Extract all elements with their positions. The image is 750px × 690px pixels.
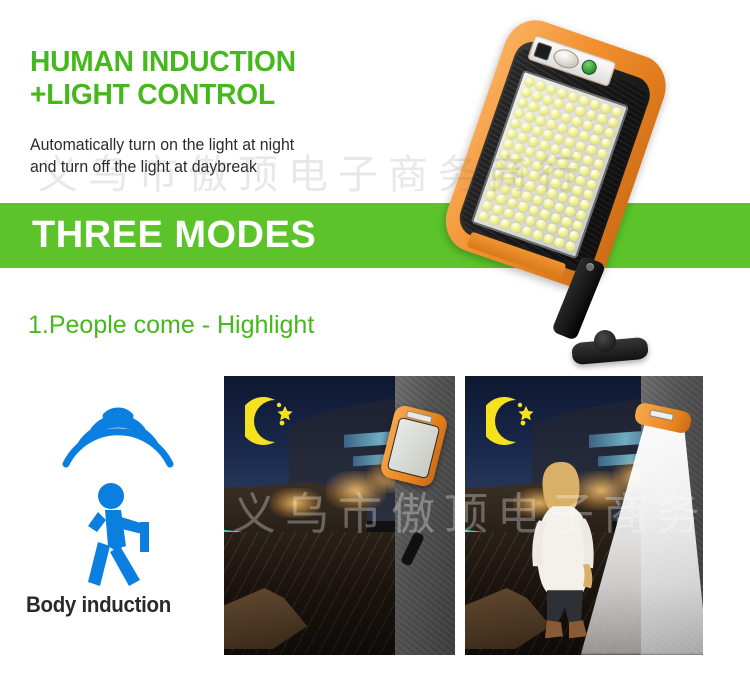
led-dot bbox=[564, 240, 577, 253]
led-dot bbox=[588, 168, 601, 181]
body-induction-block: Body induction bbox=[22, 400, 222, 640]
photo-night-lamp-off bbox=[224, 376, 455, 655]
product-infographic-page: HUMAN INDUCTION +LIGHT CONTROL Automatic… bbox=[0, 0, 750, 690]
product-lamp-image bbox=[448, 24, 698, 364]
crescent-moon-stars-icon bbox=[245, 396, 301, 446]
mode-caption-1: 1.People come - Highlight bbox=[28, 310, 314, 340]
lamp-pivot-joint bbox=[594, 330, 616, 352]
walking-woman-figure bbox=[517, 443, 613, 649]
body-induction-label: Body induction bbox=[26, 592, 212, 618]
pir-sensor-dome-icon bbox=[551, 46, 581, 71]
walking-person-signal-icon bbox=[48, 400, 188, 590]
subcopy-line-1: Automatically turn on the light at night bbox=[30, 134, 433, 156]
led-dot bbox=[592, 157, 605, 170]
subcopy-block: Automatically turn on the light at night… bbox=[30, 134, 450, 178]
three-modes-banner-title: THREE MODES bbox=[32, 207, 316, 264]
led-dot bbox=[553, 236, 566, 249]
warm-light-glow-3 bbox=[270, 488, 321, 519]
led-dot bbox=[531, 229, 544, 242]
headline-line-2: +LIGHT CONTROL bbox=[30, 79, 437, 112]
night-scene-left bbox=[224, 376, 455, 655]
headline-line-1: HUMAN INDUCTION bbox=[30, 46, 437, 79]
photo-night-lamp-on bbox=[465, 376, 703, 655]
light-sensor-square-icon bbox=[533, 41, 552, 60]
headline-block: HUMAN INDUCTION +LIGHT CONTROL bbox=[30, 46, 450, 112]
crescent-moon-stars-icon bbox=[486, 396, 542, 446]
lamp-head bbox=[437, 12, 675, 296]
night-scene-right bbox=[465, 376, 703, 655]
mode-button-icon bbox=[580, 57, 599, 76]
subcopy-line-2: and turn off the light at daybreak bbox=[30, 156, 433, 178]
